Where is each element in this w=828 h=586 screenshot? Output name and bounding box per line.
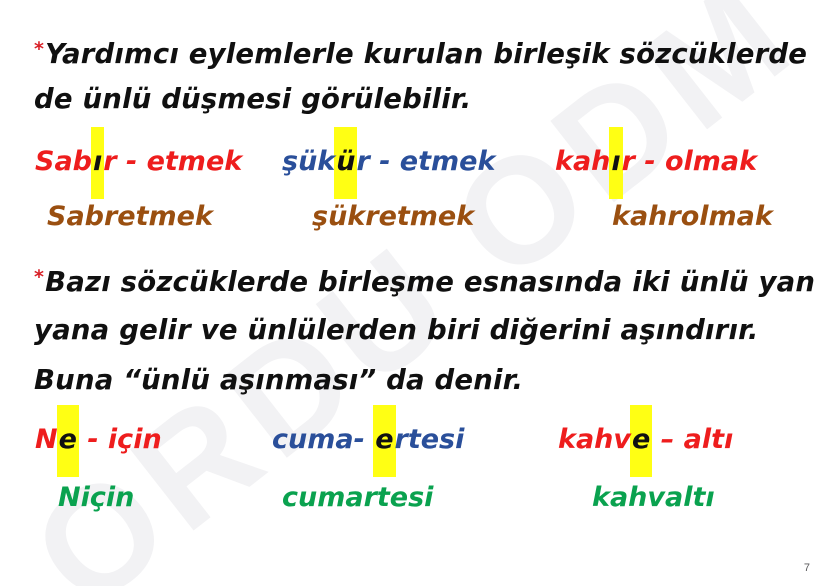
example-prefix: kahv xyxy=(558,424,631,455)
paragraph-two-line-1: *Bazı sözcüklerde birleşme esnasında iki… xyxy=(34,252,804,307)
slide-canvas: ORDU ODM *Yardımcı eylemlerle kurulan bi… xyxy=(0,0,828,586)
example-word-ne-icin: Ne - için xyxy=(35,417,162,463)
example-suffix: – altı xyxy=(651,424,733,455)
example-word-sukur-etmek: şükür - etmek xyxy=(282,139,495,185)
example-prefix: şük xyxy=(282,146,335,177)
example-suffix: r - olmak xyxy=(622,146,757,177)
example-suffix: rtesi xyxy=(395,424,465,455)
example-prefix: kah xyxy=(555,146,610,177)
result-word-cumartesi: cumartesi xyxy=(282,475,433,521)
bullet-asterisk-icon: * xyxy=(34,38,44,60)
paragraph-two-line-3-text: Buna “ünlü aşınması” da denir. xyxy=(34,364,523,396)
paragraph-two-line-1-text: Bazı sözcüklerde birleşme esnasında iki … xyxy=(45,266,815,298)
dropped-vowel-highlight: ü xyxy=(335,139,356,185)
result-word-nicin: Niçin xyxy=(58,475,134,521)
example-prefix: cuma- xyxy=(272,424,374,455)
eroded-vowel-highlight: e xyxy=(631,417,651,463)
examples-one-result-row: Sabretmek şükretmek kahrolmak xyxy=(0,194,828,240)
example-suffix: - için xyxy=(78,424,162,455)
paragraph-two-line-2: yana gelir ve ünlülerden biri diğerini a… xyxy=(34,305,804,355)
example-word-kahve-alti: kahve – altı xyxy=(558,417,733,463)
paragraph-two-line-3: Buna “ünlü aşınması” da denir. xyxy=(34,355,804,405)
slide-content: *Yardımcı eylemlerle kurulan birleşik sö… xyxy=(0,0,828,586)
paragraph-one-line-1-text: Yardımcı eylemlerle kurulan birleşik söz… xyxy=(45,38,807,70)
example-suffix: r - etmek xyxy=(356,146,495,177)
dropped-vowel-highlight: ı xyxy=(610,139,621,185)
bullet-asterisk-icon: * xyxy=(34,266,44,288)
examples-one-source-row: Sabır - etmek şükür - etmek kahır - olma… xyxy=(0,139,828,185)
paragraph-one-line-1: *Yardımcı eylemlerle kurulan birleşik sö… xyxy=(34,24,804,79)
paragraph-one-line-2-text: de ünlü düşmesi görülebilir. xyxy=(34,83,471,115)
example-word-cuma-ertesi: cuma- ertesi xyxy=(272,417,464,463)
examples-two-result-row: Niçin cumartesi kahvaltı xyxy=(0,475,828,521)
dropped-vowel-highlight: ı xyxy=(92,139,103,185)
eroded-vowel-highlight: e xyxy=(58,417,78,463)
paragraph-one-line-2: de ünlü düşmesi görülebilir. xyxy=(34,74,804,124)
page-number: 7 xyxy=(804,562,810,574)
example-prefix: N xyxy=(35,424,58,455)
example-suffix: r - etmek xyxy=(103,146,242,177)
eroded-vowel-highlight: e xyxy=(374,417,394,463)
examples-two-source-row: Ne - için cuma- ertesi kahve – altı xyxy=(0,417,828,463)
result-word-kahrolmak: kahrolmak xyxy=(612,194,773,240)
example-word-kahir-olmak: kahır - olmak xyxy=(555,139,757,185)
result-word-kahvalti: kahvaltı xyxy=(592,475,715,521)
example-word-sabir-etmek: Sabır - etmek xyxy=(35,139,242,185)
paragraph-two-line-2-text: yana gelir ve ünlülerden biri diğerini a… xyxy=(34,314,759,346)
result-word-sukretmek: şükretmek xyxy=(312,194,474,240)
result-word-sabretmek: Sabretmek xyxy=(47,194,213,240)
example-prefix: Sab xyxy=(35,146,92,177)
